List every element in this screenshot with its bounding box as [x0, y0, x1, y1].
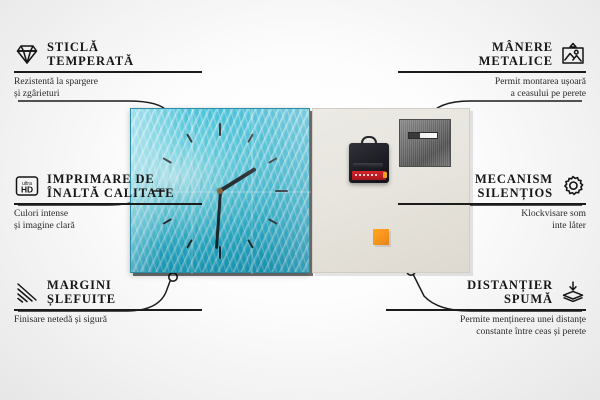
- feature-divider: [14, 71, 202, 73]
- press-down-pad-icon: [560, 280, 586, 304]
- feature-title-line1: MARGINI: [47, 278, 116, 292]
- feature-title-line1: IMPRIMARE DE: [47, 172, 175, 186]
- feature-subtitle: Finisare netedă și sigură: [14, 314, 202, 326]
- ultra-hd-badge-icon: ultra HD: [14, 174, 40, 198]
- feature-sub-line1: Permite menținerea unei distanțe: [386, 314, 586, 326]
- svg-text:HD: HD: [21, 185, 33, 195]
- feature-title-line2: ȘLEFUITE: [47, 292, 116, 306]
- clock-hour-hand: [219, 166, 257, 192]
- feature-divider: [398, 71, 586, 73]
- feature-tempered-glass: STICLĂ TEMPERATĂ Rezistentă la spargere …: [14, 40, 202, 100]
- feature-title-line1: DISTANȚIER: [467, 278, 553, 292]
- feature-divider: [14, 203, 202, 205]
- feature-sub-line1: Klockvisare som: [398, 208, 586, 220]
- feature-head: DISTANȚIER SPUMĂ: [386, 278, 586, 306]
- metal-hanger-plate: [399, 119, 451, 167]
- feature-subtitle: Permit montarea ușoară a ceasului pe per…: [398, 76, 586, 101]
- feature-sub-line1: Culori intense: [14, 208, 202, 220]
- clock-center-pin: [217, 188, 223, 194]
- feature-head: MÂNERE METALICE: [398, 40, 586, 68]
- feature-sub-line1: Finisare netedă și sigură: [14, 314, 202, 326]
- feature-subtitle: Culori intense și imagine clară: [14, 208, 202, 233]
- hanger-slot: [408, 132, 438, 139]
- foam-spacer: [373, 229, 389, 245]
- feature-metal-handles: MÂNERE METALICE Permit montarea ușoară a…: [398, 40, 586, 100]
- feature-head: MECANISM SILENȚIOS: [398, 172, 586, 200]
- feature-title-line2: SILENȚIOS: [475, 186, 553, 200]
- gear-icon: [560, 174, 586, 198]
- feature-sub-line1: Permit montarea ușoară: [398, 76, 586, 88]
- feature-title-line1: MECANISM: [475, 172, 553, 186]
- feature-subtitle: Permite menținerea unei distanțe constan…: [386, 314, 586, 339]
- movement-hook: [361, 136, 377, 146]
- feature-silent-mechanism: MECANISM SILENȚIOS Klockvisare som inte …: [398, 172, 586, 232]
- feature-title: MARGINI ȘLEFUITE: [47, 278, 116, 306]
- diagonal-lines-icon: [14, 280, 40, 304]
- feature-divider: [14, 309, 202, 311]
- feature-subtitle: Rezistentă la spargere și zgârieturi: [14, 76, 202, 101]
- clock-movement: [349, 143, 389, 183]
- feature-polished-edges: MARGINI ȘLEFUITE Finisare netedă și sigu…: [14, 278, 202, 326]
- feature-subtitle: Klockvisare som inte låter: [398, 208, 586, 233]
- feature-title: STICLĂ TEMPERATĂ: [47, 40, 134, 68]
- feature-title-line2: ÎNALTĂ CALITATE: [47, 186, 175, 200]
- feature-title-line1: MÂNERE: [479, 40, 553, 54]
- feature-sub-line2: și zgârieturi: [14, 88, 202, 100]
- feature-head: STICLĂ TEMPERATĂ: [14, 40, 202, 68]
- feature-divider: [398, 203, 586, 205]
- feature-print-quality: ultra HD IMPRIMARE DE ÎNALTĂ CALITATE Cu…: [14, 172, 202, 232]
- feature-title: DISTANȚIER SPUMĂ: [467, 278, 553, 306]
- feature-head: MARGINI ȘLEFUITE: [14, 278, 202, 306]
- feature-foam-spacer: DISTANȚIER SPUMĂ Permite menținerea unei…: [386, 278, 586, 338]
- feature-title: IMPRIMARE DE ÎNALTĂ CALITATE: [47, 172, 175, 200]
- feature-divider: [386, 309, 586, 311]
- diamond-icon: [14, 42, 40, 66]
- feature-title-line2: SPUMĂ: [467, 292, 553, 306]
- feature-sub-line2: și imagine clară: [14, 220, 202, 232]
- feature-head: ultra HD IMPRIMARE DE ÎNALTĂ CALITATE: [14, 172, 202, 200]
- feature-title-line2: TEMPERATĂ: [47, 54, 134, 68]
- feature-sub-line2: inte låter: [398, 220, 586, 232]
- feature-sub-line1: Rezistentă la spargere: [14, 76, 202, 88]
- hanging-picture-frame-icon: [560, 42, 586, 66]
- clock-minute-hand: [214, 190, 221, 248]
- battery: [352, 171, 386, 180]
- feature-title-line1: STICLĂ: [47, 40, 134, 54]
- movement-ridge: [353, 163, 383, 168]
- feature-sub-line2: constante între ceas și perete: [386, 326, 586, 338]
- feature-title-line2: METALICE: [479, 54, 553, 68]
- feature-title: MÂNERE METALICE: [479, 40, 553, 68]
- infographic-canvas: STICLĂ TEMPERATĂ Rezistentă la spargere …: [0, 0, 600, 400]
- feature-title: MECANISM SILENȚIOS: [475, 172, 553, 200]
- feature-sub-line2: a ceasului pe perete: [398, 88, 586, 100]
